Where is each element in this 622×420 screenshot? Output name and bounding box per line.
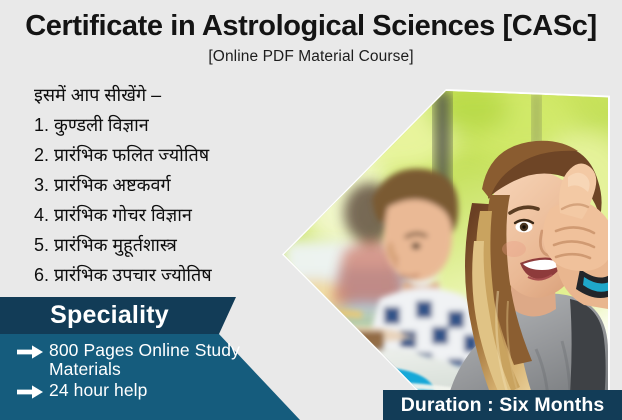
list-item: 2. प्रारंभिक फलित ज्योतिष: [34, 140, 306, 170]
hexagon-photo-clip: [284, 91, 608, 418]
list-item: 24 hour help: [17, 381, 267, 400]
syllabus-list: इसमें आप सीखेंगे – 1. कुण्डली विज्ञान 2.…: [34, 80, 306, 290]
list-item: 4. प्रारंभिक गोचर विज्ञान: [34, 200, 306, 230]
speciality-feature-list: 800 Pages Online Study Materials 24 hour…: [17, 341, 267, 402]
list-item: 3. प्रारंभिक अष्टकवर्ग: [34, 170, 306, 200]
right-arrow-icon: [17, 341, 43, 359]
page-title: Certificate in Astrological Sciences [CA…: [0, 0, 622, 43]
speciality-item-label: 24 hour help: [49, 381, 148, 400]
syllabus-heading: इसमें आप सीखेंगे –: [34, 80, 306, 110]
list-item: 1. कुण्डली विज्ञान: [34, 110, 306, 140]
student-photo-hexagon: [282, 89, 610, 420]
duration-banner: Duration : Six Months: [383, 390, 622, 420]
classroom-photo: [284, 91, 608, 418]
duration-label: Duration : Six Months: [383, 390, 622, 420]
course-promo-banner: Certificate in Astrological Sciences [CA…: [0, 0, 622, 420]
list-item: 800 Pages Online Study Materials: [17, 341, 267, 379]
speciality-title: Speciality: [0, 300, 219, 331]
right-arrow-icon: [17, 381, 43, 399]
page-subtitle: [Online PDF Material Course]: [0, 43, 622, 66]
list-item: 6. प्रारंभिक उपचार ज्योतिष: [34, 260, 306, 290]
list-item: 5. प्रारंभिक मुहूर्तशास्त्र: [34, 230, 306, 260]
speciality-item-label: 800 Pages Online Study Materials: [49, 341, 267, 379]
header: Certificate in Astrological Sciences [CA…: [0, 0, 622, 66]
